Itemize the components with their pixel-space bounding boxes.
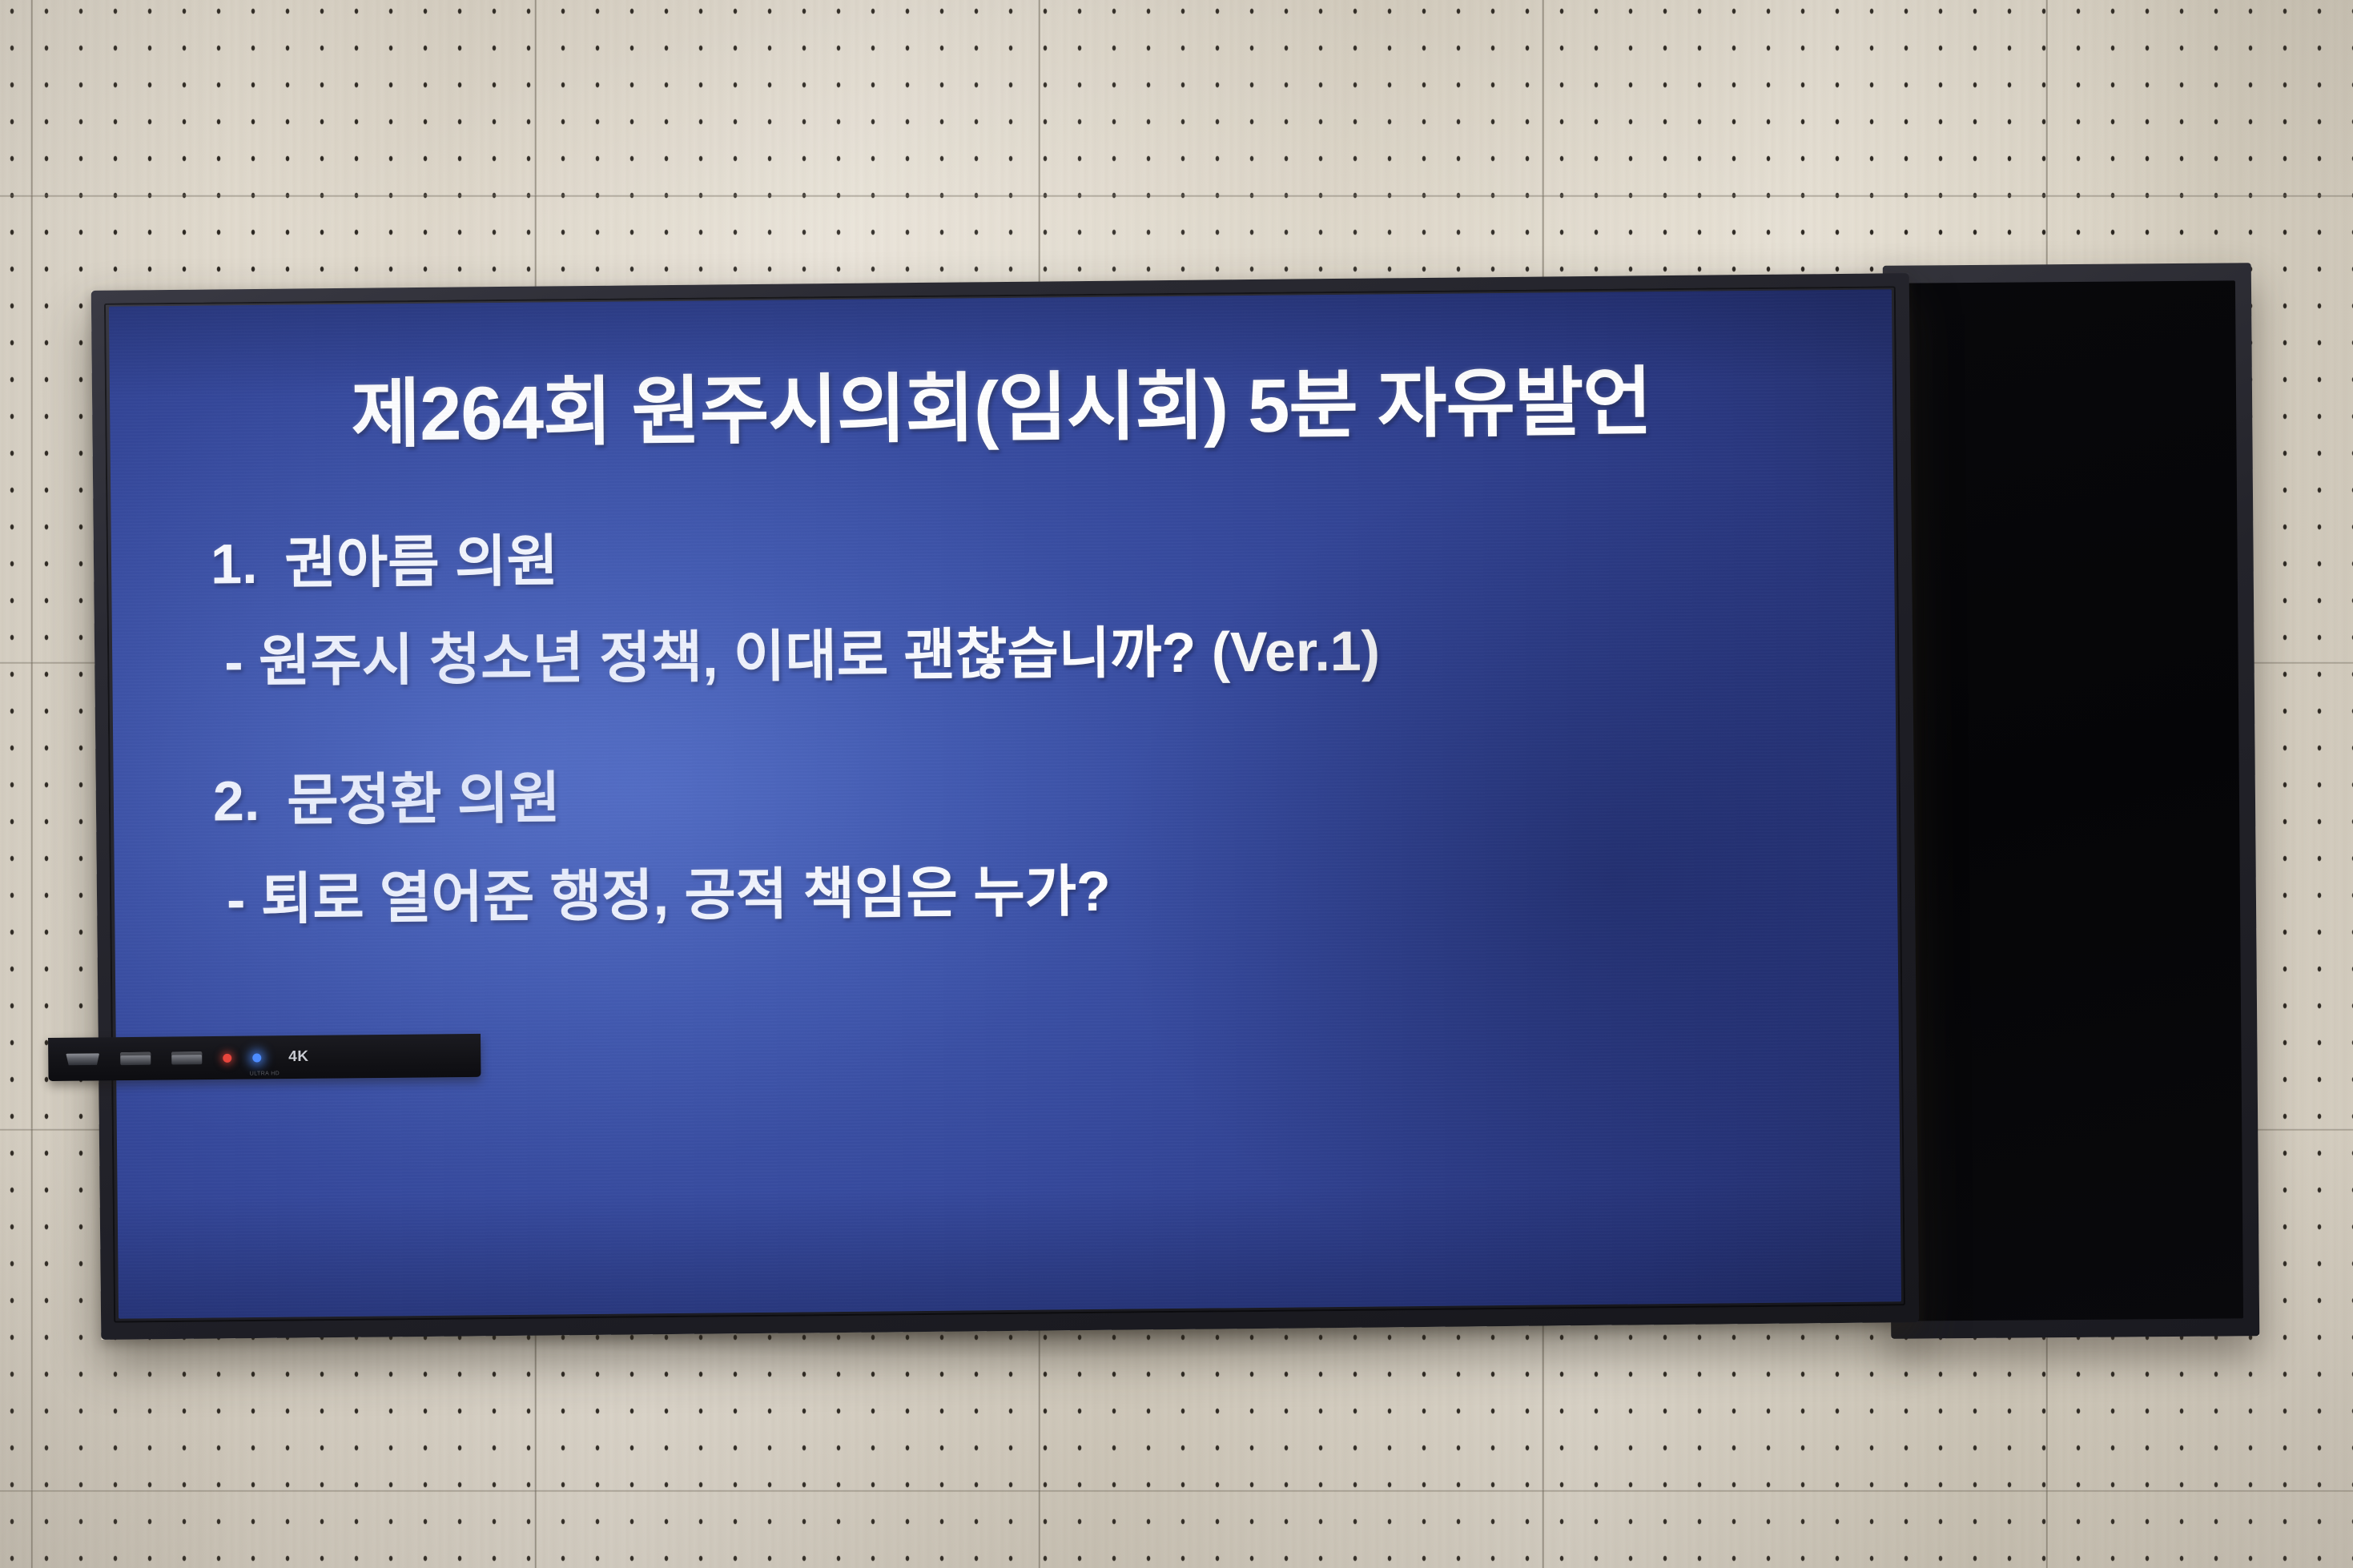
agenda-item-1: 1. 권아름 의원 - 원주시 청소년 정책, 이대로 괜찮습니까? (Ver.… bbox=[211, 517, 1836, 694]
resolution-badge-sublabel: ULTRA HD bbox=[48, 1069, 481, 1079]
primary-display-screen[interactable]: 제264회 원주시의회(임시회) 5분 자유발언 1. 권아름 의원 - 원주시… bbox=[109, 289, 1901, 1318]
secondary-display[interactable] bbox=[1883, 263, 2260, 1339]
hdmi-port-icon[interactable] bbox=[66, 1053, 99, 1065]
agenda-item-1-speaker: 권아름 의원 bbox=[284, 529, 558, 595]
agenda-item-1-topic: - 원주시 청소년 정책, 이대로 괜찮습니까? (Ver.1) bbox=[224, 615, 1836, 694]
primary-display-bezel: 제264회 원주시의회(임시회) 5분 자유발언 1. 권아름 의원 - 원주시… bbox=[91, 273, 1919, 1340]
screenshot-stage: 제264회 원주시의회(임시회) 5분 자유발언 1. 권아름 의원 - 원주시… bbox=[0, 0, 2353, 1568]
usb-port-2-icon[interactable] bbox=[171, 1051, 202, 1064]
secondary-display-screen bbox=[1900, 280, 2243, 1321]
presentation-slide: 제264회 원주시의회(임시회) 5분 자유발언 1. 권아름 의원 - 원주시… bbox=[109, 289, 1901, 1318]
resolution-badge: 4K bbox=[288, 1048, 309, 1066]
primary-display[interactable]: 제264회 원주시의회(임시회) 5분 자유발언 1. 권아름 의원 - 원주시… bbox=[91, 273, 1919, 1340]
agenda-item-2-heading: 2. 문정환 의원 bbox=[213, 754, 1838, 833]
slide-title: 제264회 원주시의회(임시회) 5분 자유발언 bbox=[169, 360, 1834, 456]
status-led-icon bbox=[252, 1053, 261, 1062]
agenda-list: 1. 권아름 의원 - 원주시 청소년 정책, 이대로 괜찮습니까? (Ver.… bbox=[171, 517, 1839, 931]
agenda-item-1-number: 1. bbox=[211, 533, 258, 596]
power-led-icon bbox=[223, 1053, 231, 1062]
display-io-panel[interactable]: 4K ULTRA HD bbox=[48, 1034, 481, 1081]
agenda-item-2-topic: - 퇴로 열어준 행정, 공적 책임은 누가? bbox=[227, 853, 1839, 931]
usb-port-1-icon[interactable] bbox=[120, 1052, 151, 1065]
agenda-item-1-heading: 1. 권아름 의원 bbox=[211, 517, 1836, 596]
agenda-item-2-speaker: 문정환 의원 bbox=[287, 767, 561, 833]
agenda-item-2-number: 2. bbox=[213, 770, 260, 833]
agenda-item-2: 2. 문정환 의원 - 퇴로 열어준 행정, 공적 책임은 누가? bbox=[213, 754, 1839, 931]
